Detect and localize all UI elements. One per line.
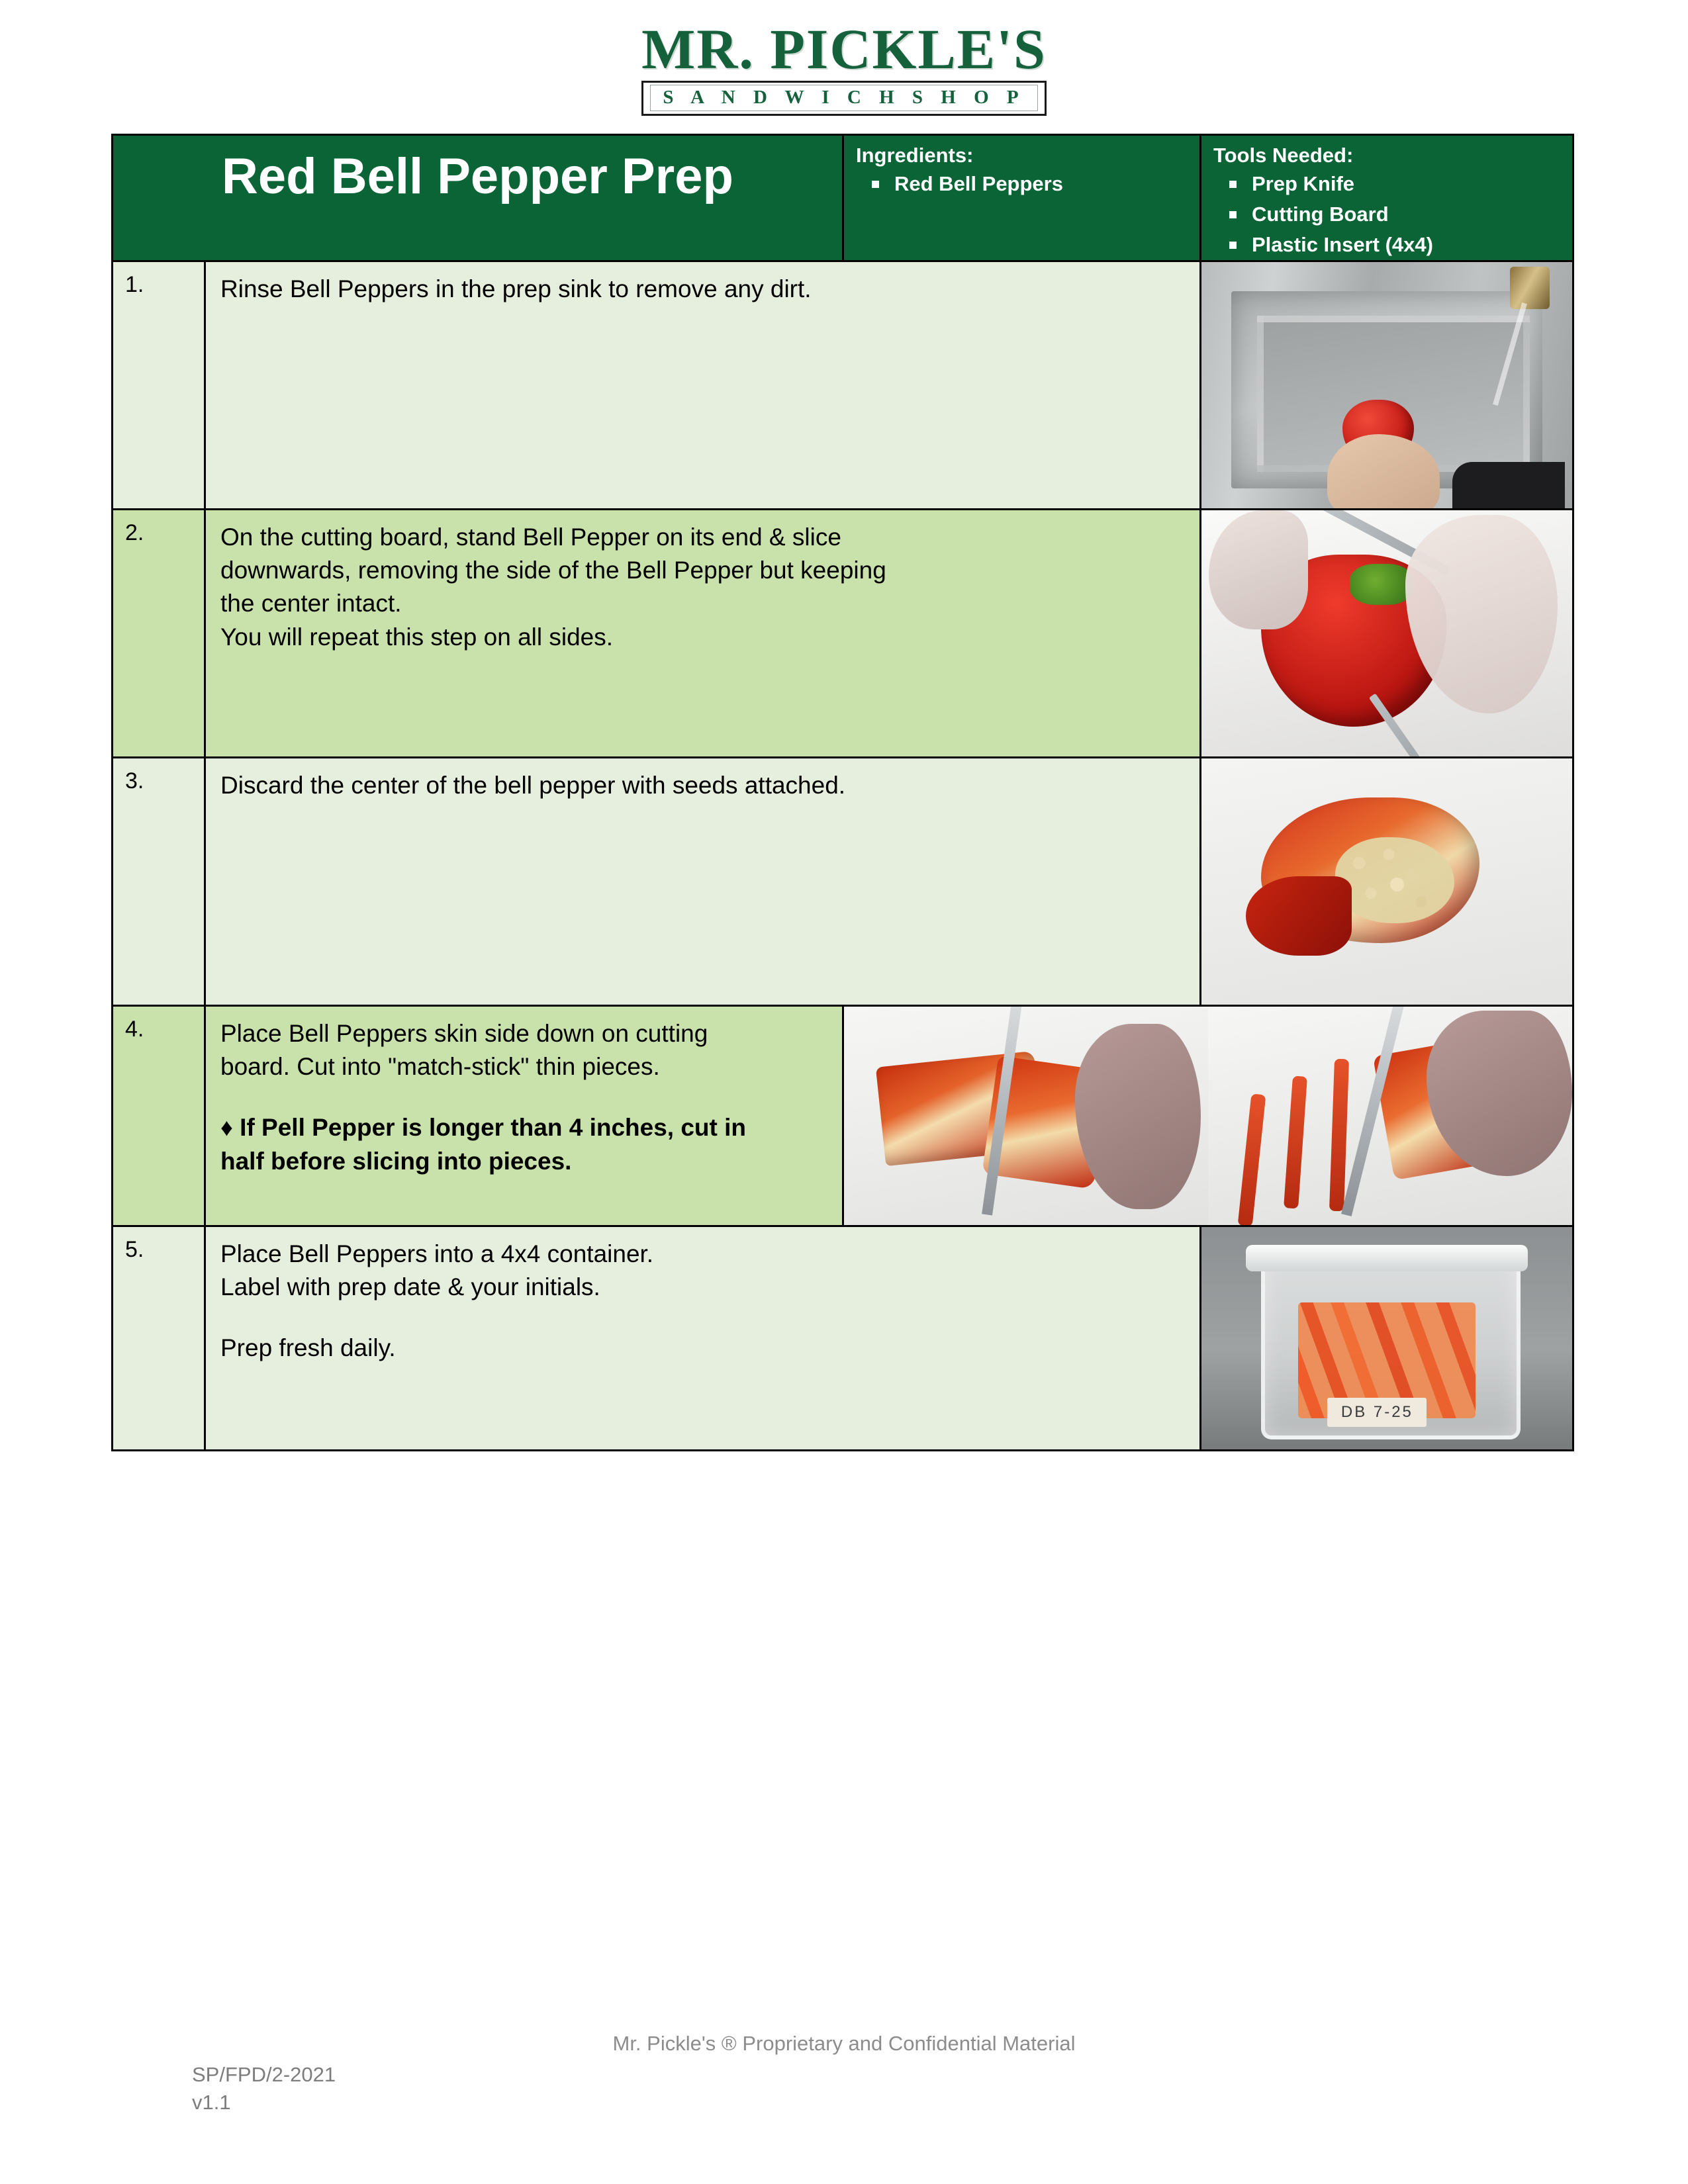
gloved-hand [1075, 1024, 1201, 1209]
bullet-square-icon [1229, 181, 1237, 188]
ingredient-label: Red Bell Peppers [894, 172, 1063, 195]
pepper-seeds [1335, 837, 1454, 923]
tool-label: Prep Knife [1252, 172, 1354, 195]
step-row: 2. On the cutting board, stand Bell Pepp… [113, 509, 1573, 757]
brand-logo: MR. PICKLE'S S A N D W I C H S H O P [0, 0, 1688, 116]
tool-item: Plastic Insert (4x4) [1224, 230, 1572, 260]
step-line: Label with prep date & your initials. [220, 1271, 1188, 1304]
step-number: 4. [113, 1007, 204, 1043]
container-date-label: DB 7-25 [1327, 1398, 1427, 1427]
pepper-matchstick [1329, 1058, 1349, 1211]
step-number: 5. [113, 1227, 204, 1263]
ingredient-item: Red Bell Peppers [867, 169, 1199, 199]
dual-photo-wrap [844, 1007, 1572, 1225]
tools-label: Tools Needed: [1201, 136, 1572, 169]
step-row: 3. Discard the center of the bell pepper… [113, 757, 1573, 1005]
step-number-cell: 3. [113, 757, 205, 1005]
footer-doc-meta: SP/FPD/2-2021 v1.1 [192, 2061, 336, 2116]
logo-block: MR. PICKLE'S S A N D W I C H S H O P [641, 23, 1047, 116]
photo-discarded-pepper-core [1201, 758, 1572, 1005]
step-text-cell: On the cutting board, stand Bell Pepper … [205, 509, 1201, 757]
photo-labeled-container: DB 7-25 [1201, 1227, 1572, 1449]
step-number-cell: 5. [113, 1226, 205, 1450]
step-number-cell: 1. [113, 261, 205, 509]
faucet-icon [1510, 267, 1550, 309]
step-text-cell: Place Bell Peppers into a 4x4 container.… [205, 1226, 1201, 1450]
bullet-square-icon [1229, 211, 1237, 218]
tool-item: Cutting Board [1224, 199, 1572, 230]
sop-header-row: Red Bell Pepper Prep Ingredients: Red Be… [113, 135, 1573, 261]
sleeve [1452, 462, 1565, 508]
container-rim [1246, 1245, 1528, 1271]
step-line: Place Bell Peppers skin side down on cut… [220, 1017, 830, 1050]
step-number-cell: 4. [113, 1005, 205, 1226]
step-note-line: ♦ If Pell Pepper is longer than 4 inches… [220, 1111, 830, 1144]
step-number: 3. [113, 758, 204, 795]
step-photo-cell [1201, 261, 1573, 509]
logo-subtitle: S A N D W I C H S H O P [659, 87, 1029, 109]
photo-cutting-pepper-strip [844, 1007, 1208, 1225]
tools-list: Prep Knife Cutting Board Plastic Insert … [1201, 169, 1572, 260]
footer-confidential-notice: Mr. Pickle's ® Proprietary and Confident… [0, 2032, 1688, 2056]
step-number: 1. [113, 262, 204, 298]
step-text: Place Bell Peppers into a 4x4 container.… [206, 1227, 1199, 1377]
tool-label: Plastic Insert (4x4) [1252, 233, 1433, 256]
tools-cell: Tools Needed: Prep Knife Cutting Board P… [1201, 135, 1573, 261]
photo-slicing-pepper-side [1201, 510, 1572, 756]
step-text: Rinse Bell Peppers in the prep sink to r… [206, 262, 1199, 318]
step-number-cell: 2. [113, 509, 205, 757]
text-spacer [220, 1304, 1188, 1332]
pepper-stem [1350, 564, 1413, 605]
step-text: On the cutting board, stand Bell Pepper … [206, 510, 1199, 666]
step-row: 5. Place Bell Peppers into a 4x4 contain… [113, 1226, 1573, 1450]
ingredients-list: Red Bell Peppers [844, 169, 1199, 199]
tool-label: Cutting Board [1252, 203, 1389, 226]
step-line: Place Bell Peppers into a 4x4 container. [220, 1238, 1188, 1271]
step-row: 4. Place Bell Peppers skin side down on … [113, 1005, 1573, 1226]
tool-item: Prep Knife [1224, 169, 1572, 199]
sop-table: Red Bell Pepper Prep Ingredients: Red Be… [111, 134, 1574, 1451]
step-number: 2. [113, 510, 204, 547]
step-line: the center intact. [220, 587, 1188, 620]
pepper-flesh-tail [1246, 876, 1352, 956]
step-line: On the cutting board, stand Bell Pepper … [220, 521, 1188, 554]
sop-sheet: Red Bell Pepper Prep Ingredients: Red Be… [111, 134, 1574, 1451]
footer-doc-code: SP/FPD/2-2021 [192, 2061, 336, 2089]
step-line: board. Cut into "match-stick" thin piece… [220, 1050, 830, 1083]
step-text: Place Bell Peppers skin side down on cut… [206, 1007, 842, 1190]
step-photo-cell [843, 1005, 1573, 1226]
page-title: Red Bell Pepper Prep [113, 136, 842, 213]
step-note-line: half before slicing into pieces. [220, 1145, 830, 1178]
photo-rinse-pepper-in-sink [1201, 262, 1572, 508]
step-photo-cell [1201, 509, 1573, 757]
ingredients-label: Ingredients: [844, 136, 1199, 169]
step-line: Prep fresh daily. [220, 1332, 1188, 1365]
logo-wordmark: MR. PICKLE'S [641, 23, 1047, 77]
logo-subtitle-box: S A N D W I C H S H O P [641, 81, 1047, 116]
pepper-matchstick [1238, 1093, 1266, 1225]
step-text-cell: Discard the center of the bell pepper wi… [205, 757, 1201, 1005]
bullet-square-icon [872, 181, 879, 188]
page-footer: Mr. Pickle's ® Proprietary and Confident… [0, 2032, 1688, 2056]
footer-version: v1.1 [192, 2089, 336, 2116]
bullet-square-icon [1229, 242, 1237, 249]
pepper-matchstick [1284, 1076, 1307, 1209]
step-line: You will repeat this step on all sides. [220, 621, 1188, 654]
step-text: Discard the center of the bell pepper wi… [206, 758, 1199, 814]
ingredients-cell: Ingredients: Red Bell Peppers [843, 135, 1201, 261]
step-text-cell: Rinse Bell Peppers in the prep sink to r… [205, 261, 1201, 509]
step-text-cell: Place Bell Peppers skin side down on cut… [205, 1005, 843, 1226]
logo-subtitle-inner: S A N D W I C H S H O P [650, 85, 1038, 111]
title-cell: Red Bell Pepper Prep [113, 135, 843, 261]
photo-matchstick-strips [1208, 1007, 1572, 1225]
step-line: Discard the center of the bell pepper wi… [220, 769, 1188, 802]
step-photo-cell [1201, 757, 1573, 1005]
text-spacer [220, 1083, 830, 1111]
step-line: Rinse Bell Peppers in the prep sink to r… [220, 273, 1188, 306]
step-line: downwards, removing the side of the Bell… [220, 554, 1188, 587]
step-photo-cell: DB 7-25 [1201, 1226, 1573, 1450]
step-row: 1. Rinse Bell Peppers in the prep sink t… [113, 261, 1573, 509]
